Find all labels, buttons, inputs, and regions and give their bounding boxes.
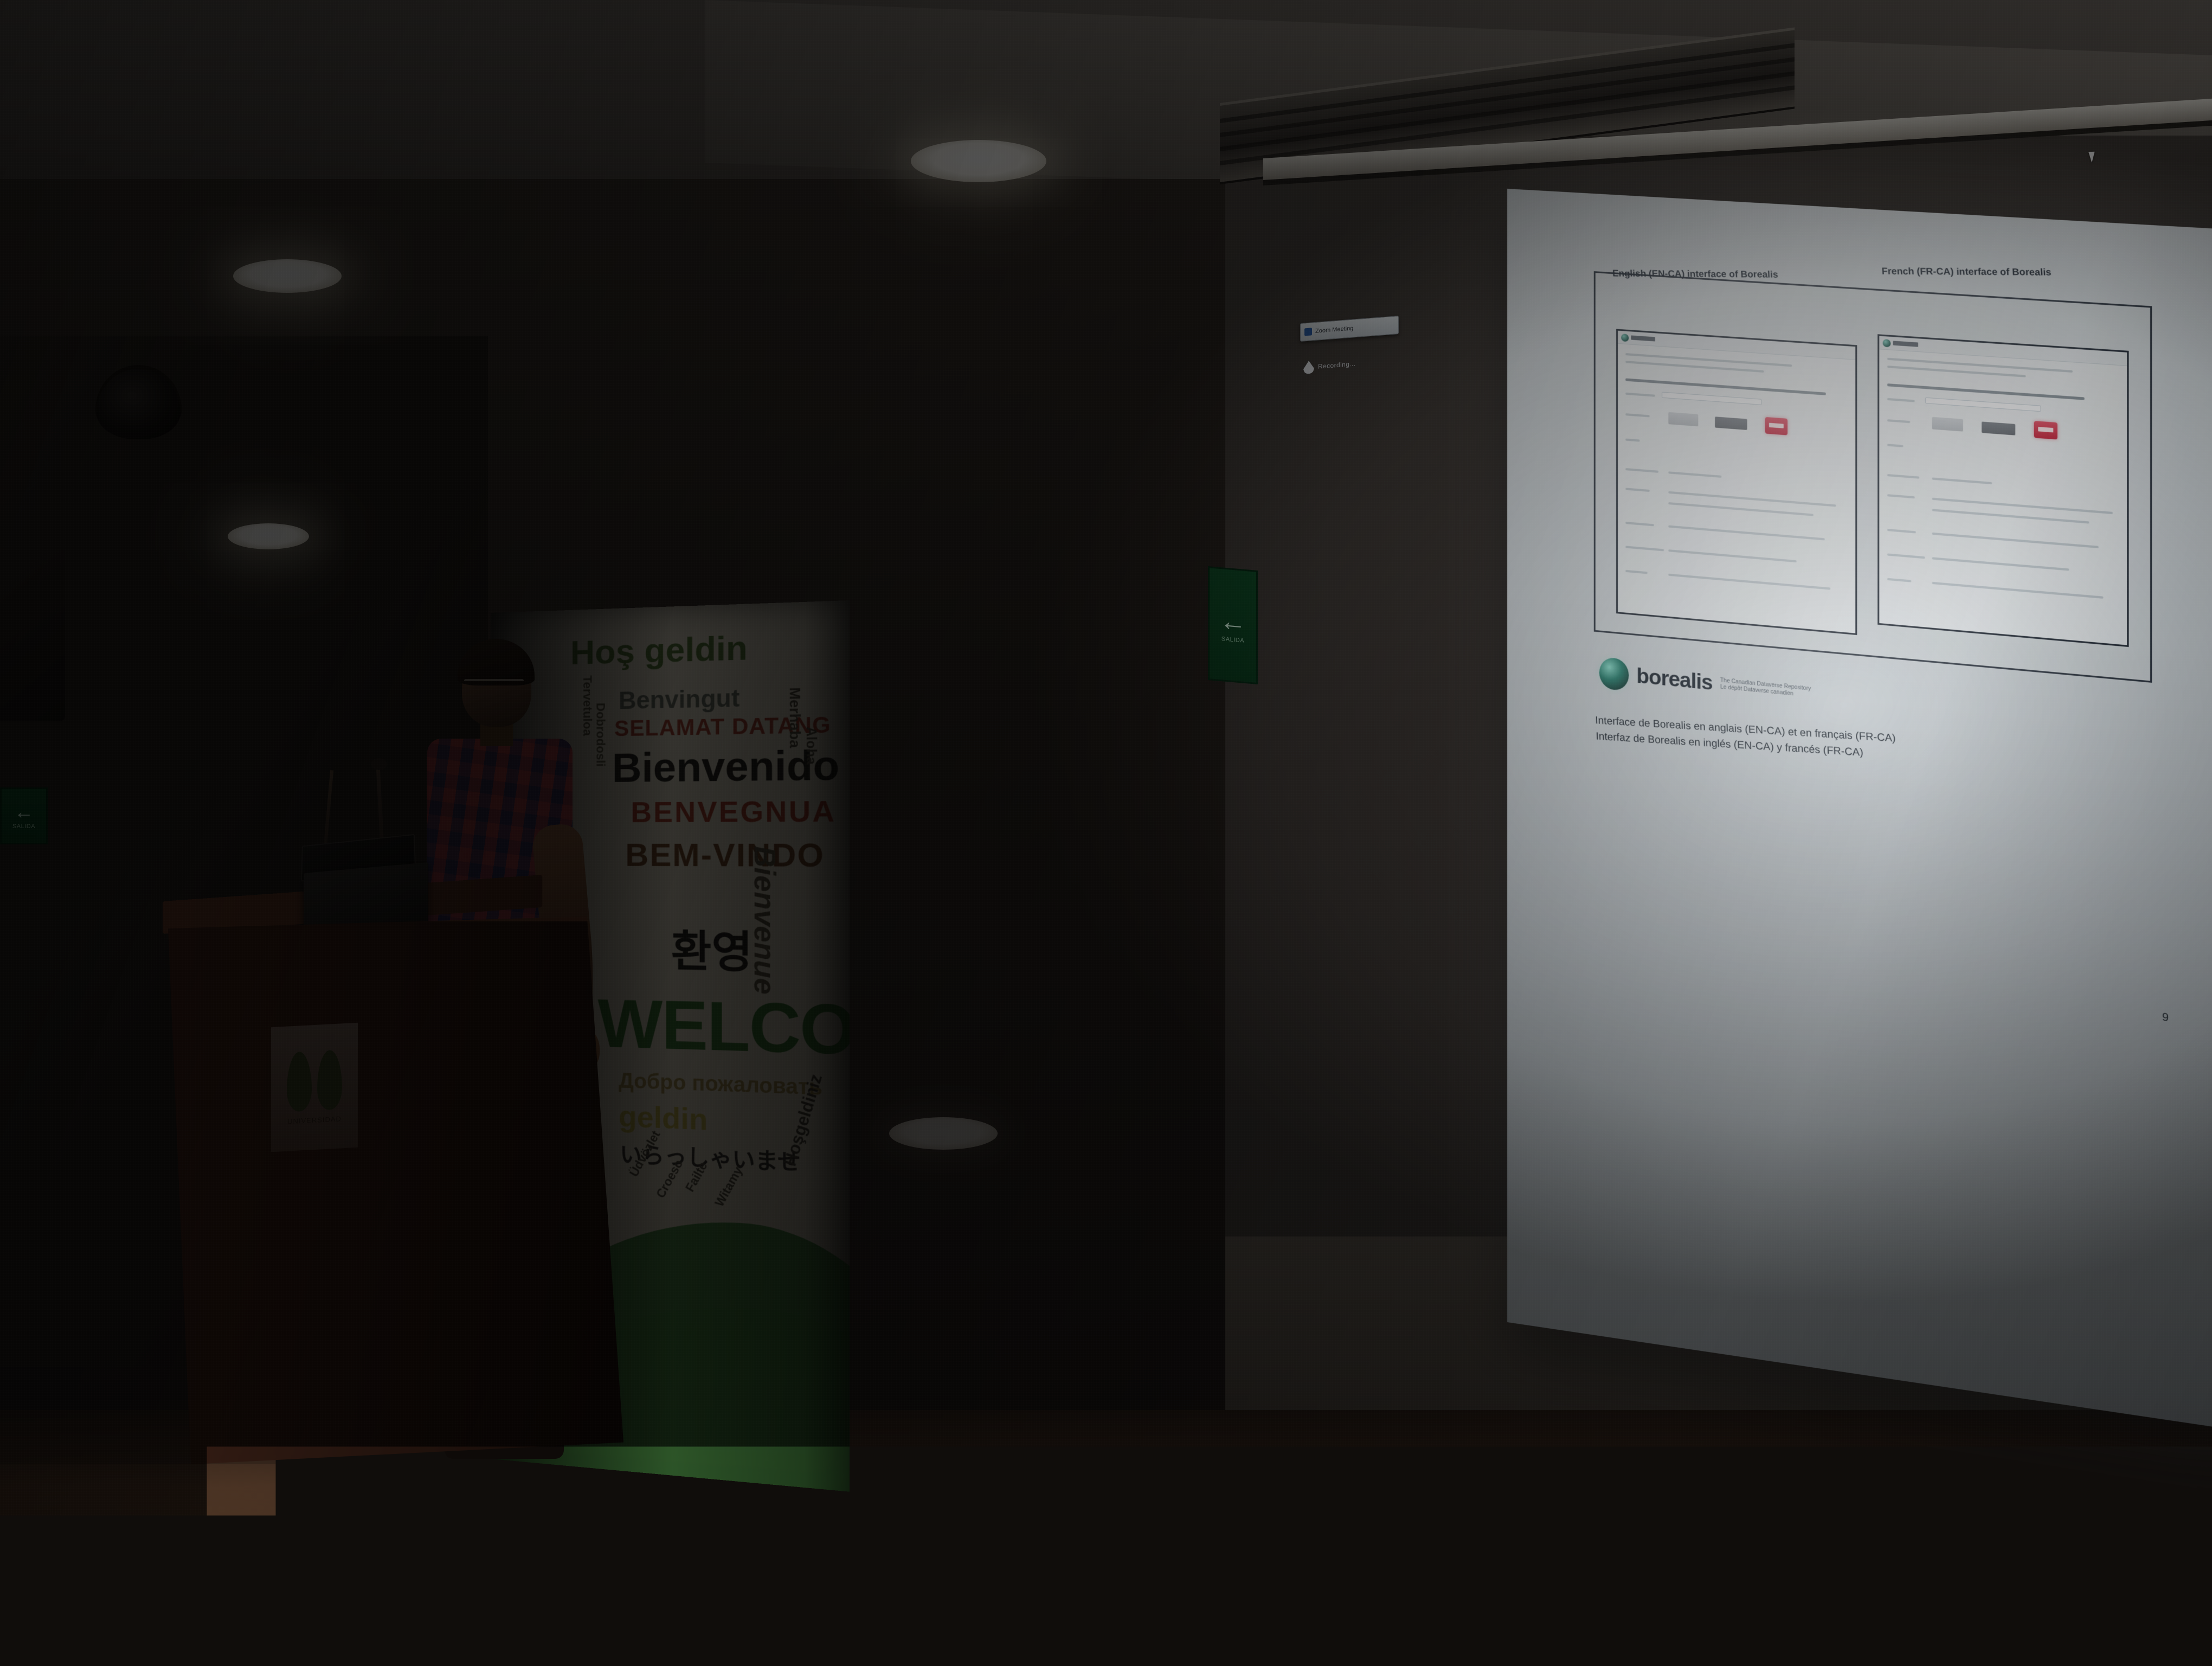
university-crest: UNIVERSIDAD <box>271 1023 358 1152</box>
exit-arrow-icon: ← <box>1219 606 1246 636</box>
slide-image-frame <box>1594 271 2152 683</box>
banner-word: Witamy <box>713 1165 745 1209</box>
exit-sign-middle: ← SALIDA <box>1208 566 1258 684</box>
banner-word: BENVEGNUA <box>631 797 837 828</box>
floor-reflection <box>0 1464 867 1666</box>
projection-screen: English (EN-CA) interface of Borealis Fr… <box>1507 189 2212 1433</box>
mini-app-wordmark <box>1893 341 1918 347</box>
banner-word: 환영 <box>671 930 753 975</box>
slide-caption: Interface de Borealis en anglais (EN-CA)… <box>1595 713 2001 770</box>
exit-arrow-icon: ← <box>14 802 34 822</box>
recording-label: Recording... <box>1318 360 1356 370</box>
app-window-icon <box>1304 328 1312 336</box>
red-badge-icon <box>2034 421 2057 439</box>
borealis-logo-icon <box>1883 339 1891 347</box>
banner-word: BEM-VINDO <box>625 839 825 872</box>
banner-word: Bienvenue <box>749 846 779 995</box>
crest-label: UNIVERSIDAD <box>287 1114 342 1125</box>
borealis-logo-icon <box>1621 334 1629 342</box>
room-scene: ← SALIDA ← SALIDA Hoş geldin Benvingut S… <box>0 0 2212 1666</box>
crest-leaf-icon <box>317 1049 342 1110</box>
banner-word: Dobrodosli <box>594 703 606 767</box>
exit-sign-label: SALIDA <box>12 823 35 830</box>
mini-app-wordmark <box>1631 335 1655 341</box>
meeting-window-title: Zoom Meeting <box>1315 325 1353 334</box>
partner-logo-b <box>1982 421 2015 435</box>
microphone-icon <box>371 758 387 770</box>
red-badge-icon <box>1765 417 1787 435</box>
ceiling-light-icon <box>228 523 309 549</box>
presentation-slide: English (EN-CA) interface of Borealis Fr… <box>1556 229 2200 1064</box>
brand-name: borealis <box>1636 664 1712 695</box>
brand-tagline: The Canadian Dataverse Repository Le dép… <box>1720 677 1816 700</box>
exit-sign-left: ← SALIDA <box>0 787 48 844</box>
podium <box>168 917 623 1464</box>
borealis-brand: borealis The Canadian Dataverse Reposito… <box>1599 653 1889 720</box>
ceiling-light-icon <box>911 140 1046 182</box>
banner-word: WELCOME <box>597 989 849 1069</box>
panel-english-interface <box>1616 329 1857 635</box>
ceiling-light-icon <box>233 259 342 293</box>
exit-sign-label: SALIDA <box>1221 636 1244 644</box>
banner-word: Tervetuloa <box>581 675 593 736</box>
partner-logo-a <box>1668 412 1698 426</box>
panel-french-interface <box>1877 334 2129 647</box>
recording-icon <box>1303 360 1314 374</box>
banner-word: Merhaba <box>787 687 802 748</box>
crest-leaf-icon <box>287 1051 312 1112</box>
ceiling-light-icon <box>889 1117 998 1150</box>
banner-word: Aloha <box>803 727 818 765</box>
banner-word: Benvingut <box>619 686 740 713</box>
wall-speaker <box>0 548 65 721</box>
partner-logo-a <box>1932 417 1963 432</box>
banner-word: Добро пожаловать <box>619 1071 822 1099</box>
partner-logo-b <box>1715 416 1747 430</box>
banner-word: Hoş geldin <box>570 631 748 670</box>
banner-word: geldin <box>619 1101 708 1135</box>
panel-title-english: English (EN-CA) interface of Borealis <box>1612 268 1779 280</box>
panel-title-french: French (FR-CA) interface of Borealis <box>1881 266 2052 278</box>
slide-page-number: 9 <box>2162 1011 2169 1025</box>
borealis-globe-logo-icon <box>1599 657 1629 691</box>
